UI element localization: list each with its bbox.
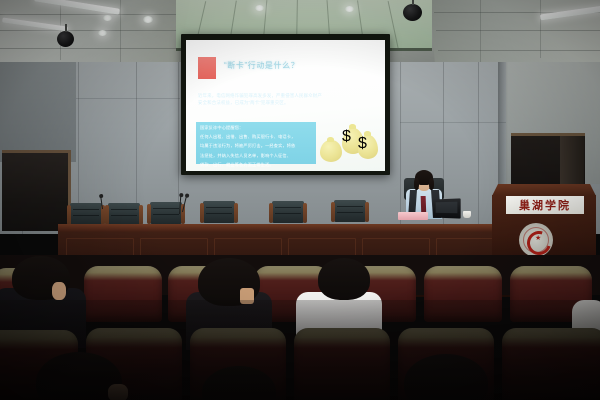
presenter-hair-side — [414, 178, 419, 190]
laptop — [433, 198, 461, 218]
auditorium-seat — [294, 328, 390, 400]
recessed-downlight — [143, 16, 153, 23]
university-emblem-icon: ★ — [519, 223, 553, 257]
stage-chair — [203, 201, 235, 223]
wall-corner-shadow — [498, 62, 508, 192]
emblem-star-icon: ★ — [535, 235, 541, 242]
recessed-downlight — [345, 6, 354, 12]
money-bag-icon — [320, 140, 342, 162]
audience-member-neck — [240, 288, 254, 304]
auditorium-seat — [84, 266, 162, 322]
slide-callout-line-4: 法惩处，并纳入失信人员名单，影响个人征信、 — [196, 150, 316, 159]
drinking-cup — [463, 211, 471, 218]
slide-callout-line-1: 国家反诈中心提醒您： — [196, 122, 316, 131]
audience-member-hand — [108, 384, 128, 400]
presenter-hair-side — [429, 178, 434, 190]
stage-chair — [150, 202, 182, 224]
wall-left-shadow-panel — [0, 62, 76, 162]
recessed-downlight — [103, 15, 112, 21]
slide-callout-line-3: 均属于违法行为，将被严厉打击。一经查实，将依 — [196, 140, 316, 149]
auditorium-seat — [424, 266, 502, 322]
dollar-sign-icon: $ — [342, 128, 351, 145]
podium-sign: 巢湖学院 — [506, 196, 584, 214]
slide-callout-line-2: 任何人出租、出借、出售、购买银行卡、电话卡， — [196, 131, 316, 140]
stage-chair — [70, 203, 102, 225]
stage-chair — [334, 200, 366, 222]
doorway-left — [2, 150, 71, 231]
auditorium-seat — [502, 328, 600, 400]
stage-chair — [272, 201, 304, 223]
slide-callout-box: 国家反诈中心提醒您： 任何人出租、出借、出售、购买银行卡、电话卡， 均属于违法行… — [196, 122, 316, 164]
slide-red-accent-block — [198, 57, 216, 79]
slide-callout-line-5: 贷款、出行、就业等各方面正常生活。 — [196, 159, 316, 168]
projection-screen: “断卡”行动是什么？ 近年来，电信网络诈骗犯罪高发多发，严重侵害人民群众财产 安… — [186, 40, 385, 171]
recessed-downlight — [255, 5, 264, 11]
lecture-hall-photo: “断卡”行动是什么？ 近年来，电信网络诈骗犯罪高发多发，严重侵害人民群众财产 安… — [0, 0, 600, 400]
audience-member-head — [318, 258, 370, 300]
slide-body-line-1: 近年来，电信网络诈骗犯罪高发多发，严重侵害人民群众财产 — [198, 92, 374, 99]
slide-body-text: 近年来，电信网络诈骗犯罪高发多发，严重侵害人民群众财产 安全和合法权益，已成为“… — [198, 92, 374, 106]
audience-member-hand — [52, 282, 66, 300]
podium-sign-text: 巢湖学院 — [519, 197, 571, 213]
ceiling-ball-speaker — [403, 4, 422, 21]
dollar-sign-icon: $ — [358, 135, 367, 152]
desk-nameplate — [398, 212, 428, 220]
slide-title: “断卡”行动是什么？ — [224, 60, 299, 71]
stage-chair — [108, 203, 140, 225]
ceiling-ball-speaker — [57, 31, 74, 47]
slide-body-line-2: 安全和合法权益，已成为“两卡”犯罪重灾区。 — [198, 99, 374, 106]
money-bag-icon: $ — [358, 135, 378, 159]
recessed-downlight — [98, 30, 107, 36]
